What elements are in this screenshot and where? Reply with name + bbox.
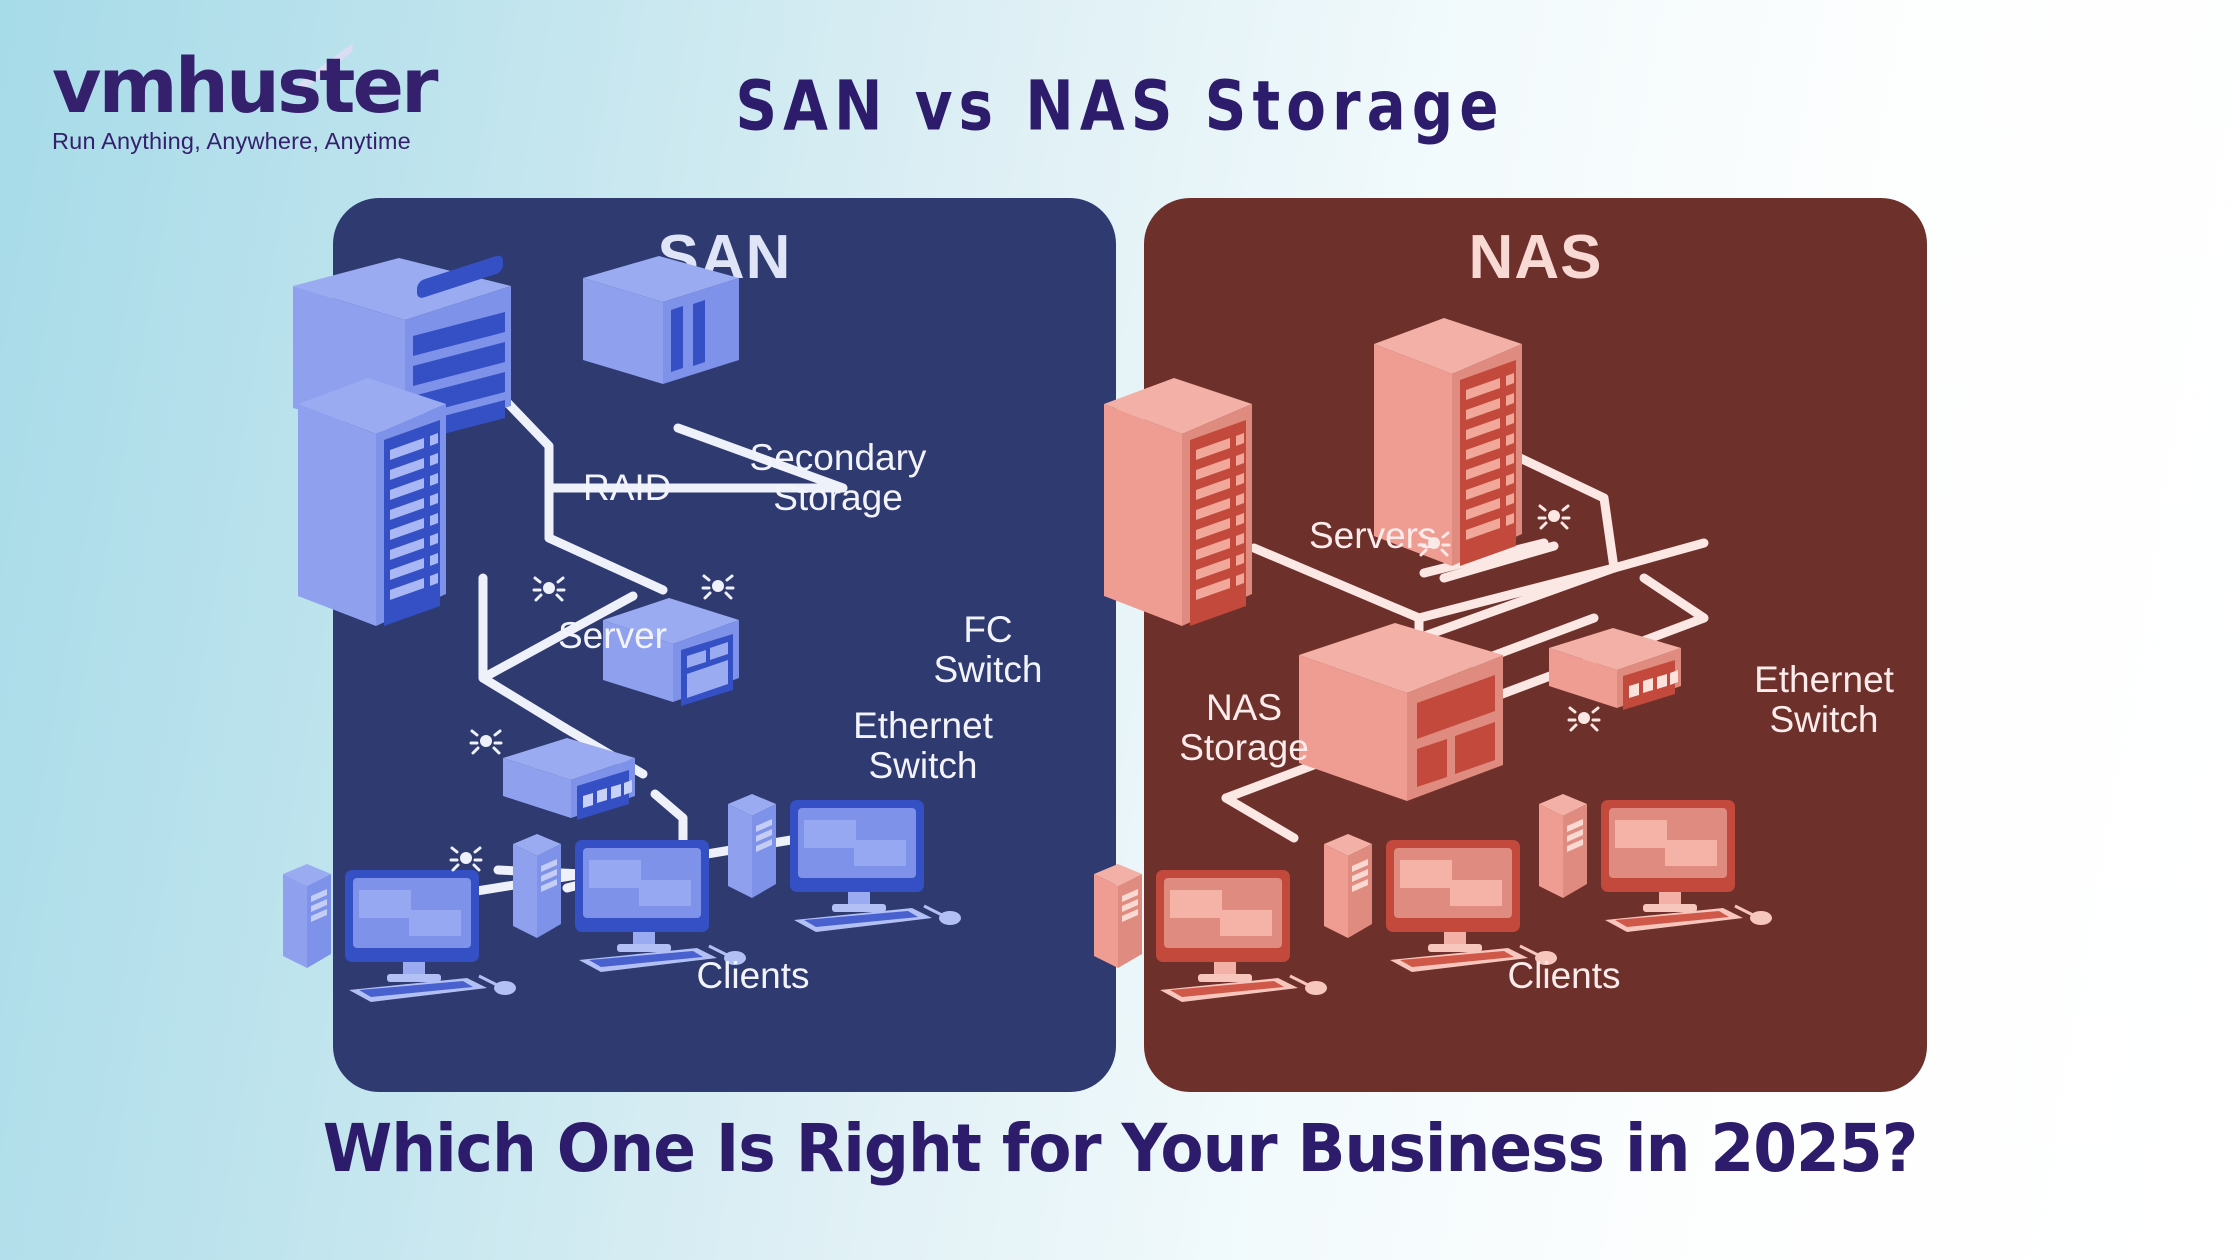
nas-panel: NAS [1144,198,1927,1092]
page-title: SAN vs NAS Storage [0,66,2240,146]
link-spark-icon [703,576,733,598]
nas-label-nas-storage: NAS Storage [1154,688,1334,768]
server-rack [298,378,446,626]
nas-label-servers: Servers [1309,516,1436,556]
client-workstation-3 [1539,794,1772,932]
san-label-raid: RAID [583,468,671,508]
san-label-ethernet-switch: Ethernet Switch [803,706,1043,786]
client-workstation-2 [1324,834,1557,972]
nas-label-ethernet-switch: Ethernet Switch [1704,660,1944,740]
ethernet-switch [503,738,635,820]
san-label-fc-switch: FC Switch [913,610,1063,690]
san-label-server: Server [558,616,667,656]
bottom-headline: Which One Is Right for Your Business in … [0,1110,2240,1187]
nas-label-clients: Clients [1264,956,1864,996]
san-label-clients: Clients [453,956,1053,996]
secondary-storage [583,256,739,384]
link-spark-icon [451,848,481,870]
link-spark-icon [534,578,564,600]
client-workstation-3 [728,794,961,932]
ethernet-switch [1549,628,1681,710]
san-panel: SAN [333,198,1116,1092]
infographic-canvas: vmhuster Run Anything, Anywhere, Anytime… [0,0,2240,1260]
link-spark-icon [1539,506,1569,528]
server-rack-1 [1104,378,1252,626]
san-label-secondary-storage: Secondary Storage [713,438,963,518]
link-spark-icon [471,731,501,753]
link-spark-icon [1569,708,1599,730]
